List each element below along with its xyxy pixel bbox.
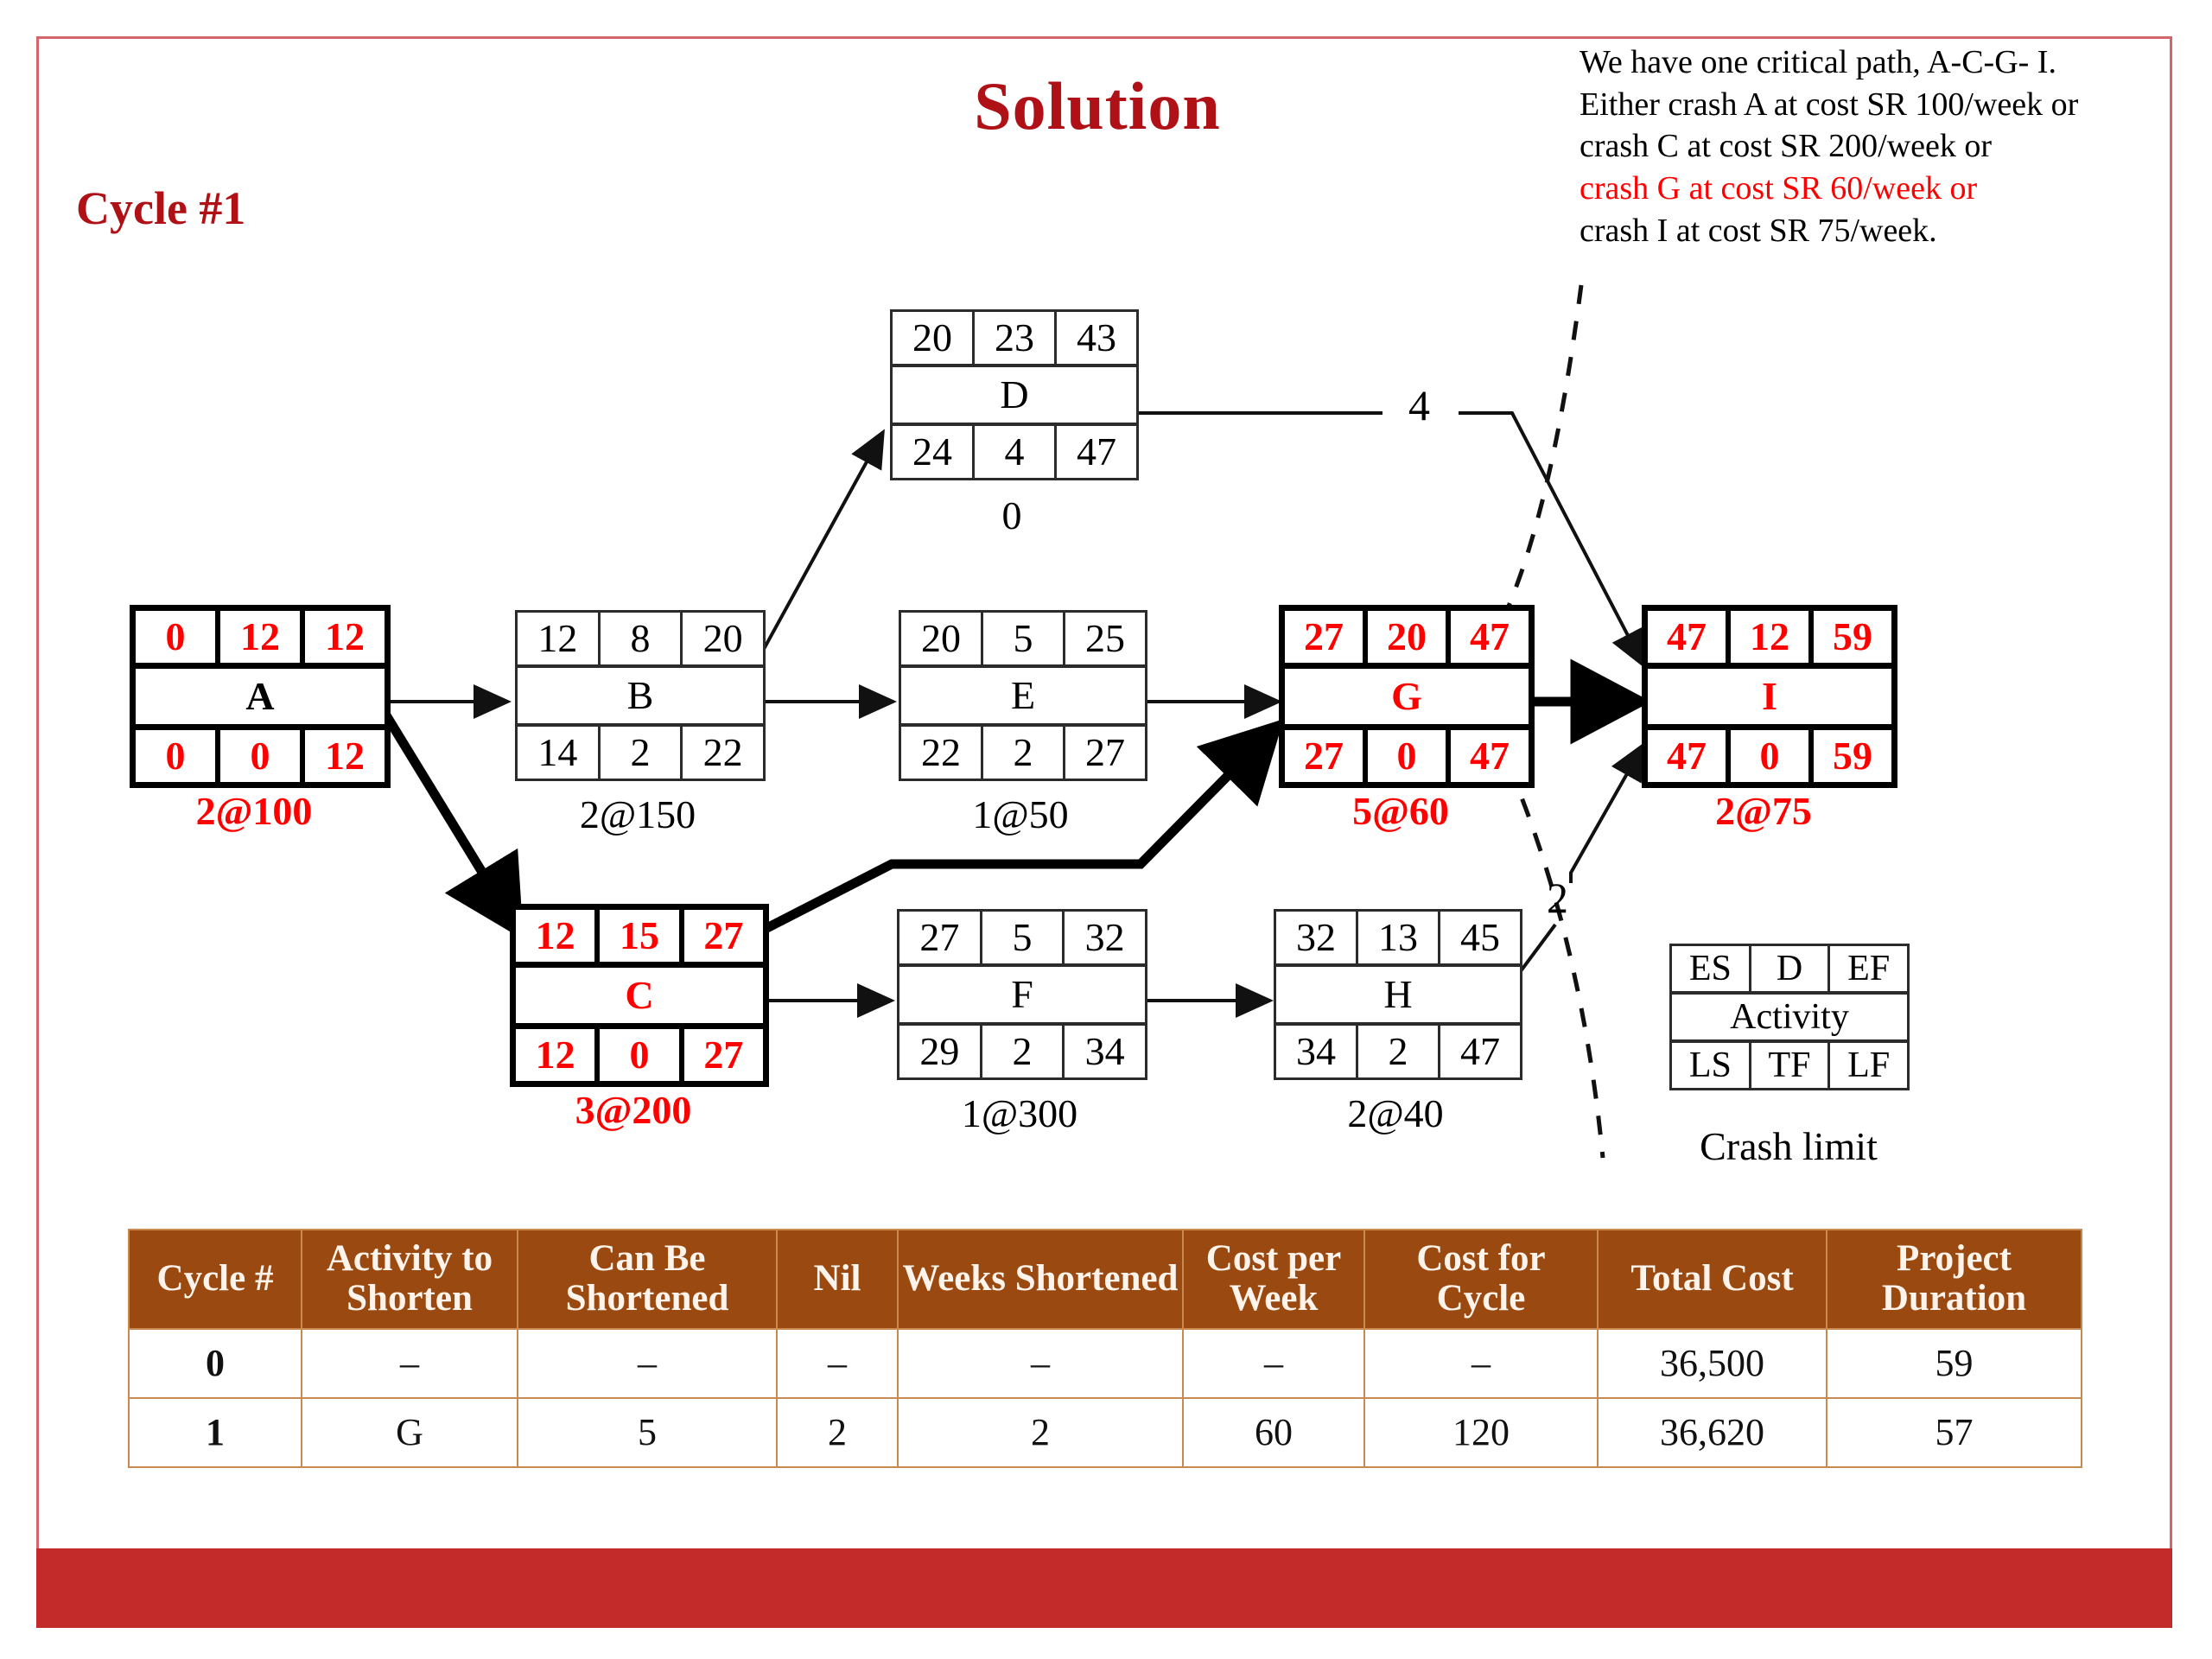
note-line-5: crash I at cost SR 75/week.: [1580, 210, 2184, 252]
row1-activity: G: [302, 1398, 518, 1467]
node-g-ef: 47: [1451, 611, 1529, 663]
node-f-lf: 34: [1065, 1026, 1145, 1077]
row0-cost-for-cycle: –: [1364, 1329, 1598, 1398]
row1-weeks-shortened: 2: [898, 1398, 1183, 1467]
col-header-cost-for-cycle: Cost for Cycle: [1364, 1230, 1598, 1329]
node-i-ls: 47: [1648, 730, 1731, 782]
node-a-crash-limit: 2@100: [130, 788, 378, 834]
row1-cost-for-cycle: 120: [1364, 1398, 1598, 1467]
node-h-crash-limit: 2@40: [1274, 1090, 1517, 1136]
node-a-ls: 0: [136, 730, 220, 782]
note-line-3: crash C at cost SR 200/week or: [1580, 125, 2184, 168]
node-e-duration: 5: [983, 613, 1065, 664]
col-header-weeks-shortened: Weeks Shortened: [898, 1230, 1183, 1329]
node-b-crash-limit: 2@150: [515, 791, 760, 837]
node-f-es: 27: [899, 912, 982, 963]
node-c-ef: 27: [684, 910, 763, 962]
page-title: Solution: [873, 67, 1322, 145]
node-h-lf: 47: [1440, 1026, 1520, 1077]
node-a-duration: 12: [220, 611, 305, 663]
node-b-tf: 2: [601, 727, 683, 779]
node-e-es: 20: [901, 613, 983, 664]
node-d-tf: 4: [975, 426, 1057, 478]
activity-node-i: 47 12 59 I 47 0 59: [1642, 605, 1897, 788]
node-f-duration: 5: [982, 912, 1065, 963]
node-a-lf: 12: [305, 730, 385, 782]
activity-node-g: 27 20 47 G 27 0 47: [1279, 605, 1535, 788]
node-c-label: C: [516, 968, 763, 1023]
node-c-duration: 15: [600, 910, 683, 962]
node-g-label: G: [1285, 669, 1529, 724]
row1-project-duration: 57: [1827, 1398, 2082, 1467]
node-a-ef: 12: [305, 611, 385, 663]
legend-ef: EF: [1830, 946, 1907, 991]
row1-nil: 2: [777, 1398, 898, 1467]
table-row: 1 G 5 2 2 60 120 36,620 57: [129, 1398, 2082, 1467]
row1-cycle: 1: [129, 1398, 302, 1467]
crashing-summary-table: Cycle # Activity to Shorten Can Be Short…: [128, 1229, 2082, 1468]
node-e-ef: 25: [1065, 613, 1145, 664]
node-e-ls: 22: [901, 727, 983, 779]
node-g-ls: 27: [1285, 730, 1368, 782]
node-d-lf: 47: [1057, 426, 1136, 478]
node-c-es: 12: [516, 910, 600, 962]
note-line-4: crash G at cost SR 60/week or: [1580, 168, 2184, 210]
legend-tf: TF: [1751, 1043, 1831, 1088]
node-g-lf: 47: [1451, 730, 1529, 782]
node-h-tf: 2: [1358, 1026, 1440, 1077]
node-f-crash-limit: 1@300: [897, 1090, 1142, 1136]
activity-node-a: 0 12 12 A 0 0 12: [130, 605, 391, 788]
row0-weeks-shortened: –: [898, 1329, 1183, 1398]
node-i-label: I: [1648, 669, 1891, 724]
row1-cost-per-week: 60: [1183, 1398, 1364, 1467]
node-d-crash-limit: 0: [890, 493, 1134, 538]
node-h-duration: 13: [1358, 912, 1440, 963]
node-e-tf: 2: [983, 727, 1065, 779]
note-line-2: Either crash A at cost SR 100/week or: [1580, 84, 2184, 126]
activity-node-h: 32 13 45 H 34 2 47: [1274, 909, 1522, 1080]
row0-project-duration: 59: [1827, 1329, 2082, 1398]
node-b-label: B: [518, 668, 763, 723]
footer-bar: [36, 1548, 2172, 1628]
row1-can-be-shortened: 5: [518, 1398, 777, 1467]
cycle-label: Cycle #1: [76, 181, 245, 235]
col-header-activity-to-shorten: Activity to Shorten: [302, 1230, 518, 1329]
node-h-es: 32: [1276, 912, 1358, 963]
node-h-ls: 34: [1276, 1026, 1358, 1077]
table-header-row: Cycle # Activity to Shorten Can Be Short…: [129, 1230, 2082, 1329]
legend-box: ES D EF Activity LS TF LF: [1669, 944, 1910, 1090]
node-a-label: A: [136, 669, 385, 724]
node-i-lf: 59: [1814, 730, 1891, 782]
node-g-duration: 20: [1368, 611, 1451, 663]
row0-total-cost: 36,500: [1598, 1329, 1827, 1398]
node-d-label: D: [893, 367, 1136, 423]
node-b-es: 12: [518, 613, 601, 664]
note-line-1: We have one critical path, A-C-G- I.: [1580, 41, 2184, 84]
critical-path-note: We have one critical path, A-C-G- I. Eit…: [1580, 41, 2184, 251]
node-c-lf: 27: [684, 1029, 763, 1081]
node-b-ls: 14: [518, 727, 601, 779]
node-c-crash-limit: 3@200: [510, 1087, 757, 1133]
node-c-tf: 0: [600, 1029, 683, 1081]
activity-node-e: 20 5 25 E 22 2 27: [899, 610, 1147, 781]
leader-label-h-to-i: 2: [1547, 873, 1568, 923]
row0-activity: –: [302, 1329, 518, 1398]
activity-node-c: 12 15 27 C 12 0 27: [510, 904, 769, 1087]
node-d-ef: 43: [1057, 312, 1136, 364]
row0-cycle: 0: [129, 1329, 302, 1398]
row1-total-cost: 36,620: [1598, 1398, 1827, 1467]
node-g-crash-limit: 5@60: [1279, 788, 1522, 834]
node-i-es: 47: [1648, 611, 1731, 663]
legend-d: D: [1751, 946, 1831, 991]
node-h-ef: 45: [1440, 912, 1520, 963]
col-header-project-duration: Project Duration: [1827, 1230, 2082, 1329]
node-f-tf: 2: [982, 1026, 1065, 1077]
node-b-duration: 8: [601, 613, 683, 664]
col-header-total-cost: Total Cost: [1598, 1230, 1827, 1329]
node-f-label: F: [899, 967, 1145, 1022]
node-g-es: 27: [1285, 611, 1368, 663]
col-header-cycle: Cycle #: [129, 1230, 302, 1329]
node-g-tf: 0: [1368, 730, 1451, 782]
node-i-tf: 0: [1731, 730, 1814, 782]
node-c-ls: 12: [516, 1029, 600, 1081]
node-f-ef: 32: [1065, 912, 1145, 963]
col-header-cost-per-week: Cost per Week: [1183, 1230, 1364, 1329]
node-e-lf: 27: [1065, 727, 1145, 779]
node-a-tf: 0: [220, 730, 305, 782]
node-d-ls: 24: [893, 426, 975, 478]
legend-ls: LS: [1672, 1043, 1751, 1088]
activity-node-f: 27 5 32 F 29 2 34: [897, 909, 1147, 1080]
leader-label-d-to-i: 4: [1408, 380, 1430, 430]
node-i-crash-limit: 2@75: [1642, 788, 1885, 834]
node-i-duration: 12: [1731, 611, 1814, 663]
legend-activity: Activity: [1672, 995, 1907, 1039]
row0-cost-per-week: –: [1183, 1329, 1364, 1398]
node-d-duration: 23: [975, 312, 1057, 364]
row0-nil: –: [777, 1329, 898, 1398]
node-f-ls: 29: [899, 1026, 982, 1077]
activity-node-b: 12 8 20 B 14 2 22: [515, 610, 766, 781]
row0-can-be-shortened: –: [518, 1329, 777, 1398]
table-row: 0 – – – – – – 36,500 59: [129, 1329, 2082, 1398]
legend-caption: Crash limit: [1659, 1123, 1918, 1169]
node-e-label: E: [901, 668, 1145, 723]
node-i-ef: 59: [1814, 611, 1891, 663]
col-header-can-be-shortened: Can Be Shortened: [518, 1230, 777, 1329]
node-h-label: H: [1276, 967, 1520, 1022]
node-b-ef: 20: [683, 613, 763, 664]
activity-node-d: 20 23 43 D 24 4 47: [890, 309, 1139, 480]
node-a-es: 0: [136, 611, 220, 663]
node-b-lf: 22: [683, 727, 763, 779]
legend-es: ES: [1672, 946, 1751, 991]
node-e-crash-limit: 1@50: [899, 791, 1142, 837]
col-header-nil: Nil: [777, 1230, 898, 1329]
node-d-es: 20: [893, 312, 975, 364]
legend-lf: LF: [1830, 1043, 1907, 1088]
